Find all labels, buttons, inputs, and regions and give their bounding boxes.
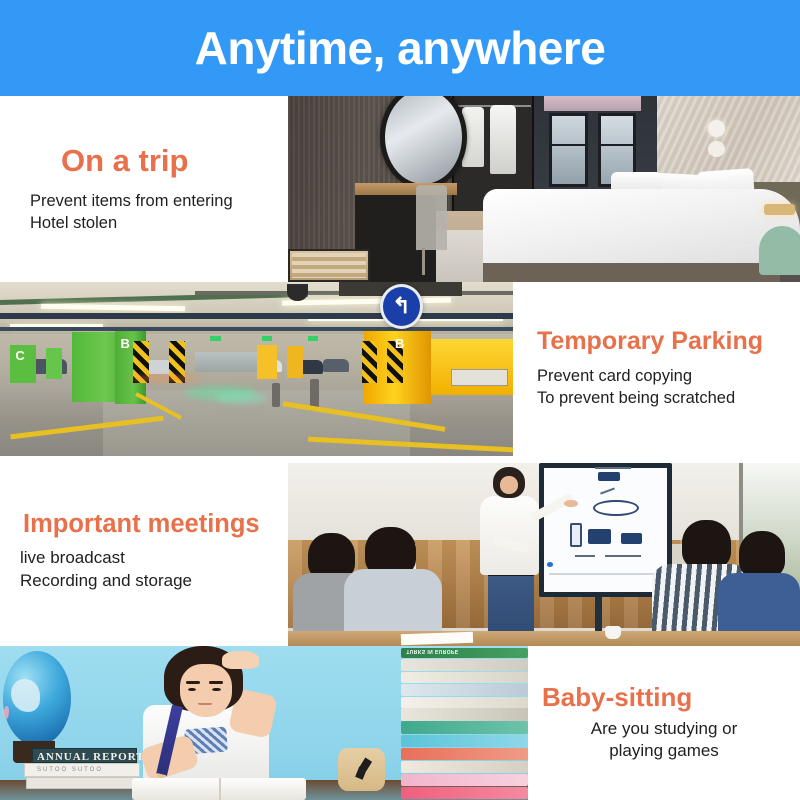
section-line-1: live broadcast <box>20 547 288 570</box>
stacked-book-1: TURKS IN EUROPE <box>401 648 528 659</box>
child-eyebrow-left <box>186 681 200 683</box>
book-title-sub: SUTOO SUTOO <box>37 767 103 773</box>
text-panel-temporary-parking: Temporary Parking Prevent card copying T… <box>513 282 800 456</box>
section-on-a-trip: On a trip Prevent items from entering Ho… <box>0 96 800 282</box>
garage-beam-1 <box>0 313 513 319</box>
section-important-meetings: Important meetings live broadcast Record… <box>0 456 800 646</box>
diagram-phone <box>570 523 582 547</box>
hotel-bed <box>483 189 800 271</box>
section-line-2: Recording and storage <box>20 570 288 593</box>
section-heading-baby-sitting: Baby-sitting <box>528 683 692 712</box>
pillar-label-b2: B <box>395 336 404 351</box>
garage-light-trail-orange <box>128 376 200 381</box>
section-line-2: Hotel stolen <box>30 213 288 235</box>
infographic-page: Anytime, anywhere On a trip Prevent item… <box>0 0 800 800</box>
child-face <box>180 664 233 716</box>
hazard-stripe-3 <box>362 341 377 383</box>
attendee-3-head <box>682 520 731 569</box>
desk-book-white-2 <box>26 777 137 789</box>
stacked-book-12 <box>401 787 528 799</box>
child-hand-on-head <box>222 651 259 669</box>
pillar-label-b: B <box>121 336 130 351</box>
globe <box>3 651 72 746</box>
presenter-face <box>500 476 518 494</box>
stacked-book-2 <box>401 659 528 671</box>
child-studying-photo: ANNUAL REPORT SUTOO SUTOO <box>0 646 528 800</box>
garage-bollard-1 <box>272 383 280 407</box>
parked-car-5 <box>323 359 349 373</box>
section-heading-temporary-parking: Temporary Parking <box>537 328 800 356</box>
hotel-desk-chair <box>416 185 447 250</box>
turn-arrow-sign-icon <box>380 284 424 329</box>
diagram-label-left <box>575 555 595 557</box>
stacked-book-11 <box>401 774 528 786</box>
stacked-book-5 <box>401 697 528 708</box>
section-heading-on-a-trip: On a trip <box>30 144 288 178</box>
diagram-laptop-bottom <box>621 533 643 544</box>
garage-yellow-wall <box>431 339 513 395</box>
security-camera-icon <box>287 284 308 301</box>
exit-sign-1 <box>210 336 220 341</box>
stacked-book-10 <box>401 761 528 773</box>
hotel-side-table <box>759 226 800 274</box>
diagram-cloud <box>593 500 639 516</box>
stacked-book-8 <box>401 735 528 747</box>
text-panel-on-a-trip: On a trip Prevent items from entering Ho… <box>0 96 288 282</box>
exit-sign-3 <box>308 336 318 341</box>
diagram-label-right <box>605 555 641 557</box>
hotel-room-photo <box>288 96 800 282</box>
section-line-1: Prevent items from entering <box>30 191 288 213</box>
hotel-bed-base <box>483 263 780 282</box>
garage-green-pillar-small-2 <box>46 348 61 379</box>
stacked-book-3 <box>401 672 528 683</box>
section-heading-important-meetings: Important meetings <box>20 510 288 538</box>
garage-yellow-pillar-small <box>257 345 278 380</box>
garage-yellow-pillar-small-2 <box>287 346 302 377</box>
hotel-window-valance <box>544 96 641 111</box>
hotel-wall-sconce-upper <box>708 120 725 137</box>
whiteboard-magnet <box>547 562 554 567</box>
hotel-luggage-bench <box>288 249 370 282</box>
section-line-1: Are you studying or <box>591 718 737 741</box>
parked-car-2 <box>146 360 172 374</box>
hotel-bedside-lamp <box>764 204 795 215</box>
section-line-1: Prevent card copying <box>537 366 800 388</box>
diagram-label-top <box>595 467 631 469</box>
presenter-hand <box>564 500 577 507</box>
whiteboard-tray-line <box>549 573 662 575</box>
exit-sign-2 <box>262 336 272 341</box>
garage-light-trail-green-2 <box>215 393 266 403</box>
book-stack: TURKS IN EUROPE <box>401 646 528 800</box>
stacked-book-6 <box>401 708 528 720</box>
stacked-book-7 <box>401 721 528 733</box>
hotel-bathrobe-2 <box>490 105 516 174</box>
garage-wall-panel <box>451 369 507 386</box>
page-title: Anytime, anywhere <box>195 25 606 71</box>
text-panel-important-meetings: Important meetings live broadcast Record… <box>0 456 288 646</box>
header-banner: Anytime, anywhere <box>0 0 800 96</box>
text-panel-baby-sitting: Baby-sitting Are you studying or playing… <box>528 646 800 800</box>
meeting-room-photo <box>288 463 800 646</box>
section-line-2: playing games <box>591 740 737 763</box>
diagram-laptop-top <box>598 472 621 481</box>
meeting-cup <box>605 626 620 639</box>
garage-beam-2 <box>0 327 513 331</box>
section-temporary-parking: B B C Temporary Parking Prev <box>0 282 800 456</box>
meeting-table <box>288 631 800 646</box>
parking-garage-photo: B B C <box>0 282 513 456</box>
stacked-book-title-1: TURKS IN EUROPE <box>406 648 458 654</box>
open-notebook <box>132 778 306 800</box>
stacked-book-9 <box>401 748 528 760</box>
child-eye-right <box>212 688 220 692</box>
attendee-4-head <box>739 531 785 579</box>
diagram-monitor <box>588 529 612 544</box>
presenter-blouse <box>480 496 539 575</box>
section-line-2: To prevent being scratched <box>537 388 800 410</box>
child-eyebrow-right <box>209 681 223 683</box>
stacked-book-4 <box>401 684 528 696</box>
pillar-label-c: C <box>15 348 24 363</box>
section-baby-sitting: ANNUAL REPORT SUTOO SUTOO <box>0 646 800 800</box>
hotel-window-left <box>549 113 587 187</box>
book-title-annual-report: ANNUAL REPORT <box>37 751 145 763</box>
